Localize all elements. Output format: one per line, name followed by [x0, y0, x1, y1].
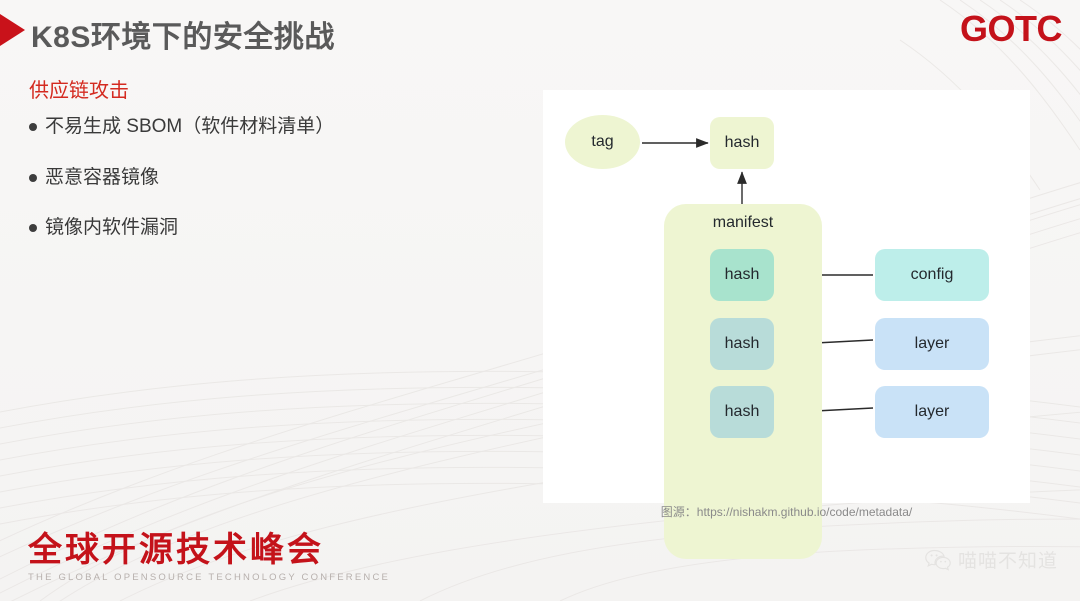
- node-tag: tag: [565, 115, 640, 169]
- node-hash-config: hash: [710, 249, 774, 301]
- list-item: 不易生成 SBOM（软件材料清单）: [29, 114, 499, 140]
- node-layer-1: layer: [875, 318, 989, 370]
- bullet-text: 不易生成 SBOM（软件材料清单）: [45, 114, 334, 140]
- node-hash-top: hash: [710, 117, 774, 169]
- watermark-text: 喵喵不知道: [958, 546, 1058, 573]
- bullet-text: 恶意容器镜像: [45, 165, 159, 191]
- list-item: 镜像内软件漏洞: [29, 215, 499, 241]
- bullet-dot-icon: [29, 123, 37, 131]
- node-hash-layer-1: hash: [710, 318, 774, 370]
- bullet-text: 镜像内软件漏洞: [45, 215, 178, 241]
- gotc-logo: GOTC: [960, 8, 1062, 50]
- page-title: K8S环境下的安全挑战: [31, 12, 335, 56]
- wechat-icon: [925, 549, 951, 571]
- list-item: 恶意容器镜像: [29, 165, 499, 191]
- section-subtitle: 供应链攻击: [29, 74, 129, 103]
- conference-brand: 全球开源技术峰会 THE GLOBAL OPENSOURCE TECHNOLOG…: [28, 532, 390, 583]
- watermark: 喵喵不知道: [925, 546, 1058, 573]
- bullet-dot-icon: [29, 224, 37, 232]
- diagram-card: manifest tag hash hash hash hash config …: [543, 90, 1030, 503]
- bullet-list: 不易生成 SBOM（软件材料清单） 恶意容器镜像 镜像内软件漏洞: [29, 114, 499, 266]
- diagram-source-note: 图源：https://nishakm.github.io/code/metada…: [543, 503, 1030, 520]
- presentation-slide: K8S环境下的安全挑战 GOTC 供应链攻击 不易生成 SBOM（软件材料清单）…: [0, 0, 1080, 601]
- bullet-dot-icon: [29, 174, 37, 182]
- node-config: config: [875, 249, 989, 301]
- brand-name-cn: 全球开源技术峰会: [28, 532, 390, 569]
- brand-name-en: THE GLOBAL OPENSOURCE TECHNOLOGY CONFERE…: [28, 572, 390, 583]
- manifest-label: manifest: [664, 214, 822, 232]
- node-hash-layer-2: hash: [710, 386, 774, 438]
- title-arrow-icon: [0, 14, 25, 46]
- node-layer-2: layer: [875, 386, 989, 438]
